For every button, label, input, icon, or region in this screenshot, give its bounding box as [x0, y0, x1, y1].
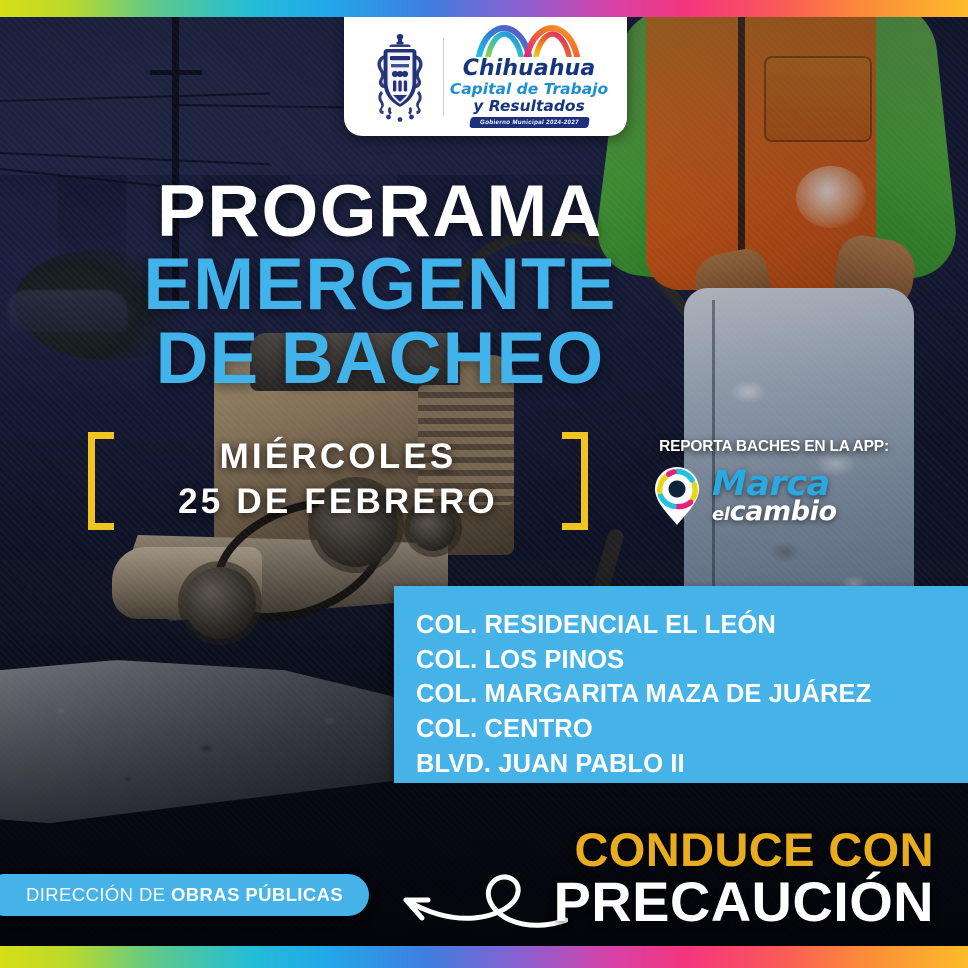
- safety-slogan: CONDUCE CON PRECAUCIÓN: [554, 826, 934, 930]
- poster-canvas: Chihuahua Capital de Trabajo y Resultado…: [0, 0, 968, 968]
- vest-paint-smear: [796, 166, 866, 228]
- compactor-pulley: [184, 567, 256, 639]
- rainbow-bar-bottom: [0, 946, 968, 968]
- list-item: COL. CENTRO: [416, 712, 968, 747]
- title-line-1: PROGRAMA: [0, 176, 760, 248]
- curly-arrow-icon: [378, 848, 568, 936]
- department-badge: DIRECCIÓN DE OBRAS PÚBLICAS: [0, 874, 369, 916]
- date-weekday: MIÉRCOLES: [132, 435, 544, 480]
- list-item: COL. LOS PINOS: [416, 643, 968, 678]
- map-pin-icon: [648, 465, 706, 527]
- rainbow-bar-top: [0, 0, 968, 17]
- app-name: Marca elcambio: [712, 469, 837, 524]
- app-callout-label: REPORTA BACHES EN LA APP:: [648, 438, 900, 456]
- chihuahua-brand: Chihuahua Capital de Trabajo y Resultado…: [454, 25, 604, 128]
- app-name-cambio: elcambio: [712, 500, 837, 524]
- event-date: MIÉRCOLES 25 DE FEBRERO: [88, 432, 588, 530]
- title-line-3: DE BACHEO: [0, 322, 760, 396]
- marca-el-cambio-logo[interactable]: Marca elcambio: [648, 465, 900, 527]
- department-label: DIRECCIÓN DE OBRAS PÚBLICAS: [26, 884, 343, 906]
- department-prefix: DIRECCIÓN DE: [26, 884, 171, 905]
- app-callout[interactable]: REPORTA BACHES EN LA APP: Marca elcambio: [648, 438, 900, 527]
- list-item: COL. RESIDENCIAL EL LEÓN: [416, 608, 968, 643]
- date-text: MIÉRCOLES 25 DE FEBRERO: [132, 435, 544, 525]
- list-item: COL. MARGARITA MAZA DE JUÁREZ: [416, 677, 968, 712]
- app-name-cambio-word: cambio: [730, 496, 837, 527]
- logo-divider: [443, 38, 444, 116]
- bracket-left-icon: [88, 432, 114, 530]
- government-logo-card: Chihuahua Capital de Trabajo y Resultado…: [344, 17, 627, 136]
- coat-of-arms-icon: [367, 31, 433, 123]
- app-name-el: el: [712, 504, 730, 525]
- list-item: BLVD. JUAN PABLO II: [416, 747, 968, 782]
- slogan-line-1: CONDUCE CON: [554, 826, 934, 873]
- page-title: PROGRAMA EMERGENTE DE BACHEO: [0, 176, 760, 396]
- brand-tagline-1: Capital de Trabajo: [450, 81, 608, 98]
- date-day-month: 25 DE FEBRERO: [132, 480, 544, 525]
- department-name: OBRAS PÚBLICAS: [171, 884, 343, 905]
- bracket-right-icon: [562, 432, 588, 530]
- street-list-panel: COL. RESIDENCIAL EL LEÓN COL. LOS PINOS …: [394, 586, 968, 783]
- mountain-arcs-icon: [475, 25, 583, 57]
- brand-term-ribbon: Gobierno Municipal 2024-2027: [469, 117, 589, 128]
- brand-tagline-2: y Resultados: [473, 98, 585, 115]
- slogan-line-2: PRECAUCIÓN: [554, 873, 934, 930]
- brand-city-name: Chihuahua: [463, 58, 596, 80]
- title-line-2: EMERGENTE: [0, 248, 760, 322]
- vest-pocket: [764, 56, 872, 142]
